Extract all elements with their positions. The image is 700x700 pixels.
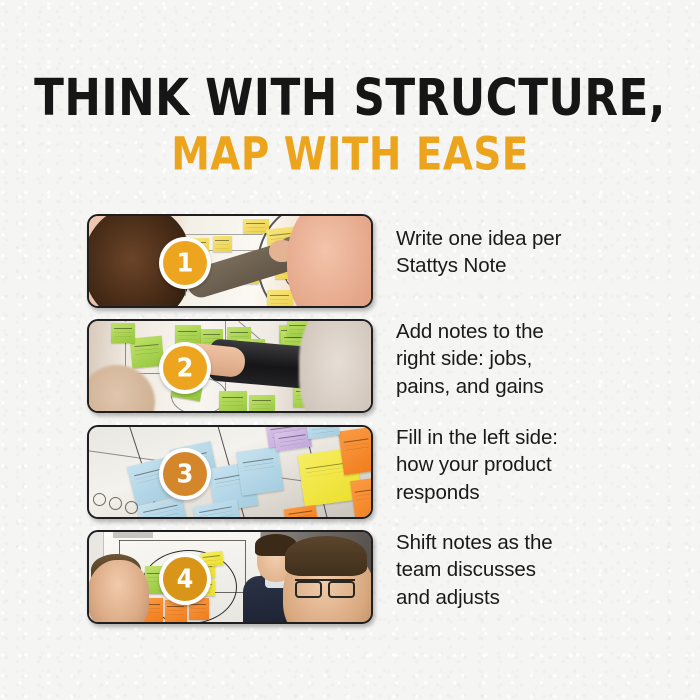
photo4-canvas-line <box>119 540 245 541</box>
badge-disc-4: 4 <box>163 557 207 601</box>
step-text-line: Fill in the left side: <box>396 424 646 451</box>
step-photo-4: 4 <box>87 530 373 624</box>
step-description-2: Add notes to the right side: jobs, pains… <box>396 318 646 400</box>
step-badge-3: 3 <box>159 448 211 500</box>
photo3-logo-icon <box>93 493 106 506</box>
photo3-sticky-note <box>193 499 240 519</box>
headline-primary-line: THINK WITH STRUCTURE, <box>11 72 690 124</box>
step-text-line: responds <box>396 479 646 506</box>
photo3-sticky-note <box>274 429 312 452</box>
photo2-sticky-note <box>219 391 247 413</box>
step-number-1: 1 <box>177 250 194 275</box>
photo3-sticky-note <box>338 427 373 475</box>
page-title: THINK WITH STRUCTURE, MAP WITH EASE <box>0 72 700 173</box>
headline-accent-line: MAP WITH EASE <box>11 132 690 178</box>
step-text-line: Write one idea per <box>396 225 646 252</box>
step-number-3: 3 <box>177 461 194 486</box>
step-text-line: Add notes to the <box>396 318 646 345</box>
step-description-4: Shift notes as the team discusses and ad… <box>396 529 646 611</box>
photo3-sticky-note <box>306 425 340 439</box>
step-text-line: pains, and gains <box>396 373 646 400</box>
photo2-sticky-note <box>111 323 135 343</box>
photo4-right-person-hair <box>285 536 367 576</box>
step-photo-1: 1 <box>87 214 373 308</box>
infographic-page: THINK WITH STRUCTURE, MAP WITH EASE <box>0 0 700 700</box>
step-number-2: 2 <box>177 355 194 380</box>
step-text-line: and adjusts <box>396 584 646 611</box>
badge-disc-2: 2 <box>163 346 207 390</box>
step-badge-4: 4 <box>159 553 211 605</box>
step-photo-2: 2 <box>87 319 373 413</box>
step-text-line: Shift notes as the <box>396 529 646 556</box>
step-text-line: Stattys Note <box>396 252 646 279</box>
photo3-sticky-note <box>350 477 373 519</box>
step-item-3: 3 Fill in the left side: how your produc… <box>0 425 700 519</box>
photo3-logo-icon <box>109 497 122 510</box>
badge-disc-3: 3 <box>163 452 207 496</box>
photo2-canvas-line <box>125 319 180 322</box>
step-badge-1: 1 <box>159 237 211 289</box>
photo1-sticky-note <box>213 236 232 252</box>
step-item-2: 2 Add notes to the right side: jobs, pai… <box>0 319 700 413</box>
step-text-line: right side: jobs, <box>396 345 646 372</box>
step-photo-3: 3 <box>87 425 373 519</box>
step-number-4: 4 <box>177 566 194 591</box>
photo1-board-line <box>185 234 263 235</box>
step-badge-2: 2 <box>159 342 211 394</box>
photo2-sticky-note <box>249 395 275 413</box>
step-item-1: 1 Write one idea per Stattys Note <box>0 214 700 308</box>
photo1-second-person <box>287 214 373 308</box>
step-text-line: team discusses <box>396 556 646 583</box>
step-description-1: Write one idea per Stattys Note <box>396 225 646 280</box>
badge-disc-1: 1 <box>163 241 207 285</box>
photo1-sticky-note <box>267 290 293 308</box>
photo2-background-person <box>299 319 373 413</box>
photo3-sticky-note <box>236 446 284 495</box>
photo4-canvas-label <box>113 530 153 538</box>
step-item-4: 4 Shift notes as the team discusses and … <box>0 530 700 624</box>
step-text-line: how your product <box>396 451 646 478</box>
step-description-3: Fill in the left side: how your product … <box>396 424 646 506</box>
photo3-sticky-note <box>284 505 318 519</box>
photo4-left-person <box>87 560 149 624</box>
photo3-logo-icon <box>125 501 138 514</box>
photo4-right-person-glasses <box>295 579 355 592</box>
